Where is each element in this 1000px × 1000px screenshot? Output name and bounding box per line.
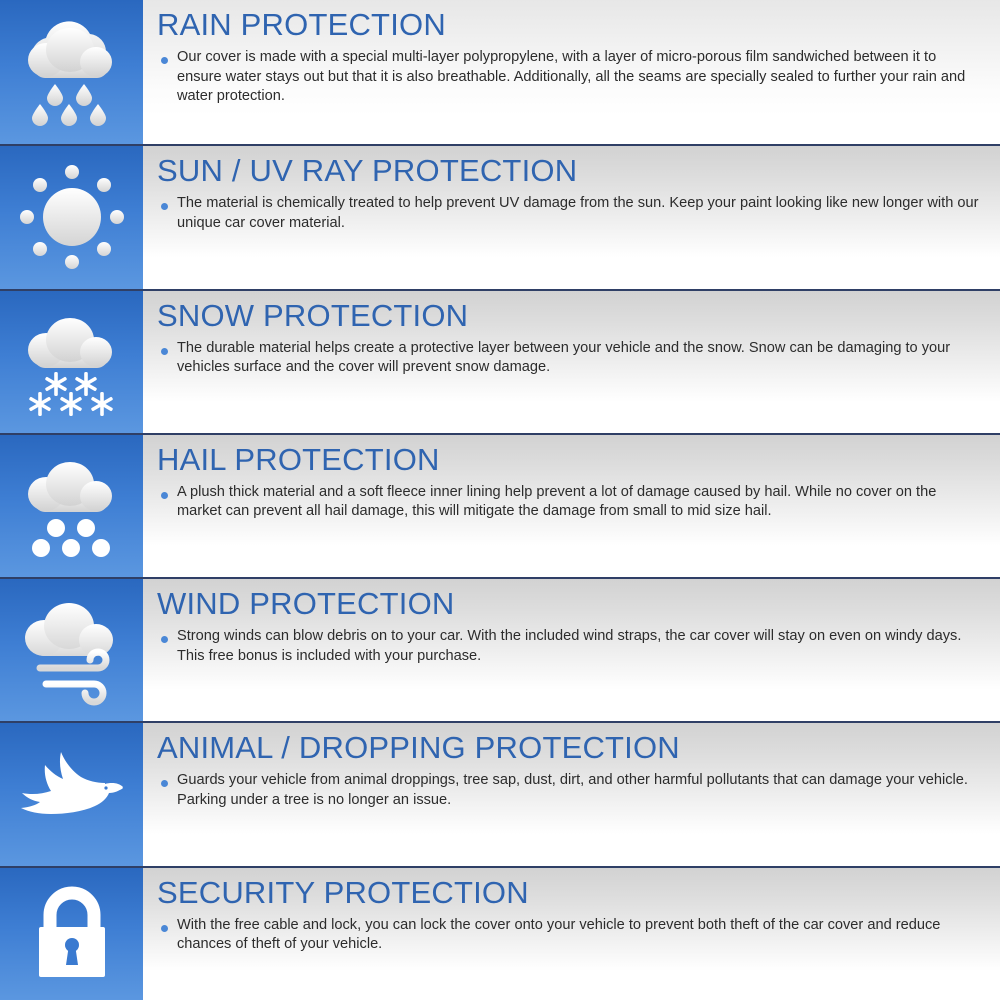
icon-cell-sun (0, 146, 143, 288)
feature-title: SUN / UV RAY PROTECTION (155, 150, 984, 192)
feature-body: Guards your vehicle from animal dropping… (155, 771, 984, 810)
feature-row: SECURITY PROTECTION With the free cable … (0, 866, 1000, 1000)
bullet-dot-icon (161, 203, 168, 210)
feature-body: With the free cable and lock, you can lo… (155, 916, 984, 955)
feature-row: SUN / UV RAY PROTECTION The material is … (0, 144, 1000, 288)
feature-title: RAIN PROTECTION (155, 4, 984, 46)
icon-cell-security (0, 868, 143, 1000)
feature-row: SNOW PROTECTION The durable material hel… (0, 289, 1000, 433)
feature-row: HAIL PROTECTION A plush thick material a… (0, 433, 1000, 577)
icon-cell-bird (0, 723, 143, 865)
feature-body: A plush thick material and a soft fleece… (155, 483, 984, 522)
feature-description: With the free cable and lock, you can lo… (177, 916, 984, 955)
feature-description: The material is chemically treated to he… (177, 194, 984, 233)
padlock-icon (17, 879, 127, 989)
sun-icon (12, 157, 132, 277)
feature-row: RAIN PROTECTION Our cover is made with a… (0, 0, 1000, 144)
icon-cell-hail (0, 435, 143, 577)
text-cell: ANIMAL / DROPPING PROTECTION Guards your… (143, 723, 1000, 865)
feature-description: The durable material helps create a prot… (177, 339, 984, 378)
bullet-dot-icon (161, 636, 168, 643)
feature-description: Guards your vehicle from animal dropping… (177, 771, 984, 810)
wind-cloud-icon (12, 590, 132, 710)
feature-description: A plush thick material and a soft fleece… (177, 483, 984, 522)
feature-body: The durable material helps create a prot… (155, 339, 984, 378)
bullet-dot-icon (161, 348, 168, 355)
feature-description: Strong winds can blow debris on to your … (177, 627, 984, 666)
text-cell: SECURITY PROTECTION With the free cable … (143, 868, 1000, 1000)
feature-body: Our cover is made with a special multi-l… (155, 48, 984, 107)
bullet-dot-icon (161, 780, 168, 787)
text-cell: SNOW PROTECTION The durable material hel… (143, 291, 1000, 433)
bullet-dot-icon (161, 492, 168, 499)
bullet-dot-icon (161, 925, 168, 932)
feature-title: WIND PROTECTION (155, 583, 984, 625)
feature-row: ANIMAL / DROPPING PROTECTION Guards your… (0, 721, 1000, 865)
feature-title: ANIMAL / DROPPING PROTECTION (155, 727, 984, 769)
bullet-dot-icon (161, 57, 168, 64)
text-cell: WIND PROTECTION Strong winds can blow de… (143, 579, 1000, 721)
icon-cell-snow (0, 291, 143, 433)
protection-features-infographic: RAIN PROTECTION Our cover is made with a… (0, 0, 1000, 1000)
text-cell: SUN / UV RAY PROTECTION The material is … (143, 146, 1000, 288)
feature-row: WIND PROTECTION Strong winds can blow de… (0, 577, 1000, 721)
feature-title: HAIL PROTECTION (155, 439, 984, 481)
text-cell: RAIN PROTECTION Our cover is made with a… (143, 0, 1000, 144)
feature-description: Our cover is made with a special multi-l… (177, 48, 984, 107)
feature-body: The material is chemically treated to he… (155, 194, 984, 233)
rain-cloud-icon (12, 12, 132, 132)
feature-body: Strong winds can blow debris on to your … (155, 627, 984, 666)
feature-title: SECURITY PROTECTION (155, 872, 984, 914)
icon-cell-rain (0, 0, 143, 144)
snow-cloud-icon (12, 302, 132, 422)
bird-icon (7, 740, 137, 850)
feature-title: SNOW PROTECTION (155, 295, 984, 337)
icon-cell-wind (0, 579, 143, 721)
hail-cloud-icon (12, 446, 132, 566)
text-cell: HAIL PROTECTION A plush thick material a… (143, 435, 1000, 577)
